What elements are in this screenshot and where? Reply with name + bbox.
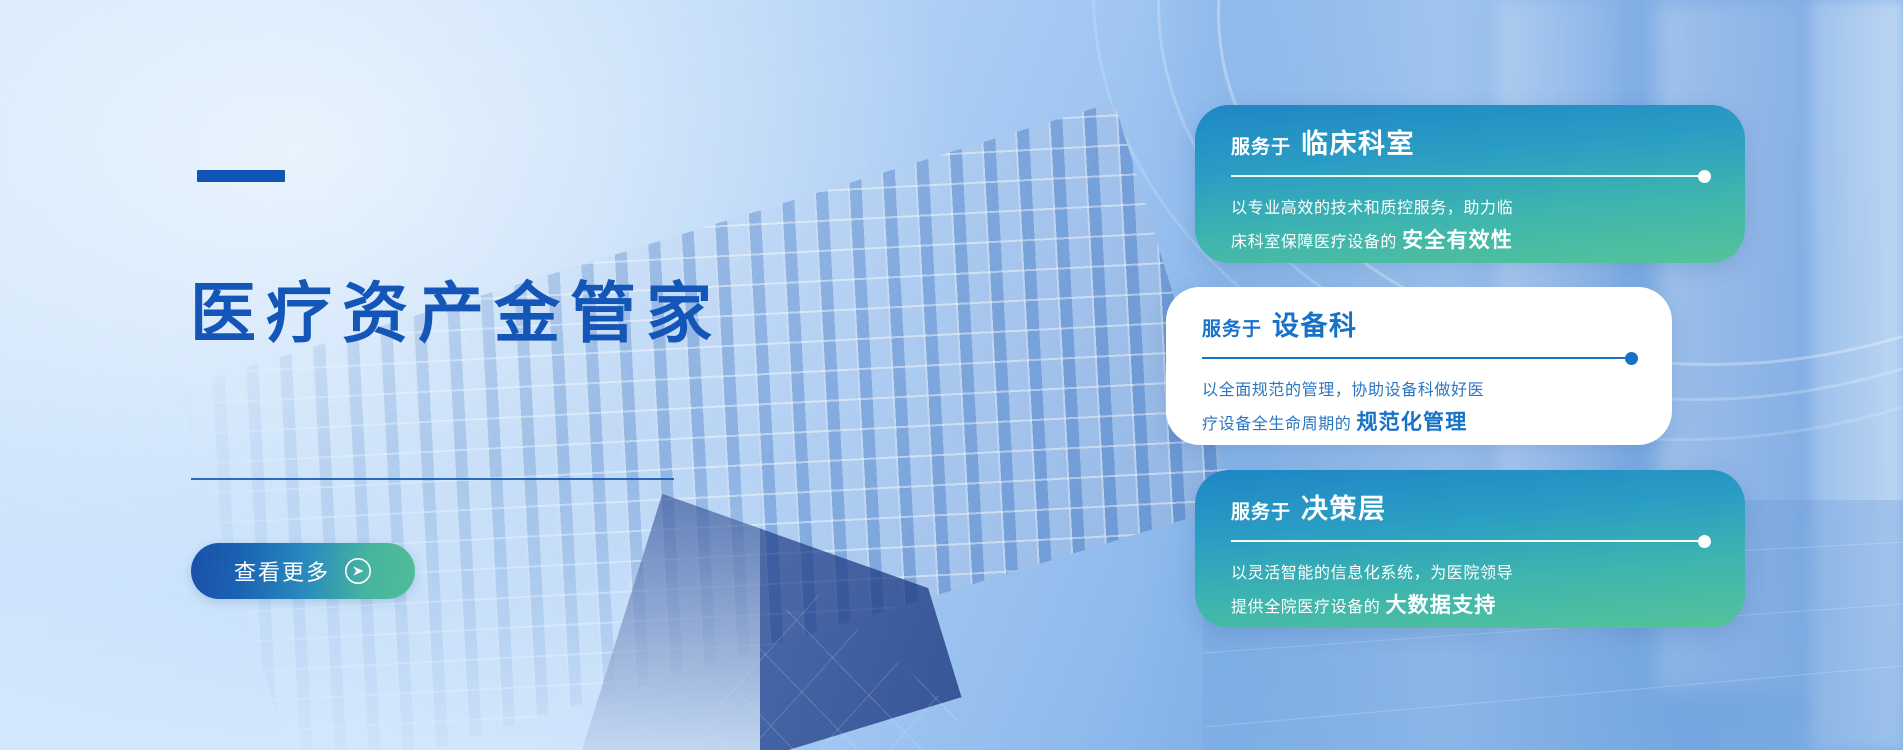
- card-head-prefix: 服务于: [1202, 320, 1262, 339]
- card-head-prefix: 服务于: [1231, 138, 1291, 157]
- card-body-line2: 床科室保障医疗设备的 安全有效性: [1231, 223, 1711, 260]
- card-body-line1: 以专业高效的技术和质控服务，助力临: [1231, 195, 1711, 223]
- card-rule-line: [1202, 357, 1629, 359]
- card-rule-dot: [1698, 535, 1711, 548]
- service-card-decision[interactable]: 服务于 决策层 以灵活智能的信息化系统，为医院领导 提供全院医疗设备的 大数据支…: [1195, 470, 1745, 628]
- card-body: 以全面规范的管理，协助设备科做好医 疗设备全生命周期的 规范化管理: [1202, 377, 1638, 442]
- card-body: 以专业高效的技术和质控服务，助力临 床科室保障医疗设备的 安全有效性: [1231, 195, 1711, 260]
- card-head-main: 临床科室: [1301, 131, 1415, 158]
- card-body-line1: 以灵活智能的信息化系统，为医院领导: [1231, 560, 1711, 588]
- card-rule-dot: [1625, 352, 1638, 365]
- service-cards: 服务于 临床科室 以专业高效的技术和质控服务，助力临 床科室保障医疗设备的 安全…: [0, 0, 1903, 750]
- card-body-line1: 以全面规范的管理，协助设备科做好医: [1202, 377, 1638, 405]
- card-body-emphasis: 规范化管理: [1356, 411, 1467, 434]
- card-body-emphasis: 大数据支持: [1385, 594, 1496, 617]
- card-body-line2: 提供全院医疗设备的 大数据支持: [1231, 588, 1711, 625]
- card-body-line2-plain: 提供全院医疗设备的: [1231, 599, 1380, 616]
- card-rule: [1231, 169, 1711, 183]
- card-head-prefix: 服务于: [1231, 503, 1291, 522]
- card-heading: 服务于 设备科: [1202, 313, 1638, 340]
- hero-banner: 医疗资产金管家 查看更多 服务于 临床科室 以专业高效的技术和: [0, 0, 1903, 750]
- card-body-line2: 疗设备全生命周期的 规范化管理: [1202, 405, 1638, 442]
- card-rule-line: [1231, 540, 1702, 542]
- card-rule-dot: [1698, 170, 1711, 183]
- card-heading: 服务于 决策层: [1231, 496, 1711, 523]
- service-card-equipment[interactable]: 服务于 设备科 以全面规范的管理，协助设备科做好医 疗设备全生命周期的 规范化管…: [1166, 287, 1672, 445]
- card-head-main: 决策层: [1301, 496, 1387, 523]
- card-body-line2-plain: 疗设备全生命周期的: [1202, 416, 1351, 433]
- card-rule-line: [1231, 175, 1702, 177]
- card-head-main: 设备科: [1272, 313, 1358, 340]
- card-heading: 服务于 临床科室: [1231, 131, 1711, 158]
- card-body: 以灵活智能的信息化系统，为医院领导 提供全院医疗设备的 大数据支持: [1231, 560, 1711, 625]
- card-rule: [1231, 534, 1711, 548]
- service-card-clinical[interactable]: 服务于 临床科室 以专业高效的技术和质控服务，助力临 床科室保障医疗设备的 安全…: [1195, 105, 1745, 263]
- card-rule: [1202, 351, 1638, 365]
- card-body-emphasis: 安全有效性: [1402, 229, 1513, 252]
- card-body-line2-plain: 床科室保障医疗设备的: [1231, 234, 1397, 251]
